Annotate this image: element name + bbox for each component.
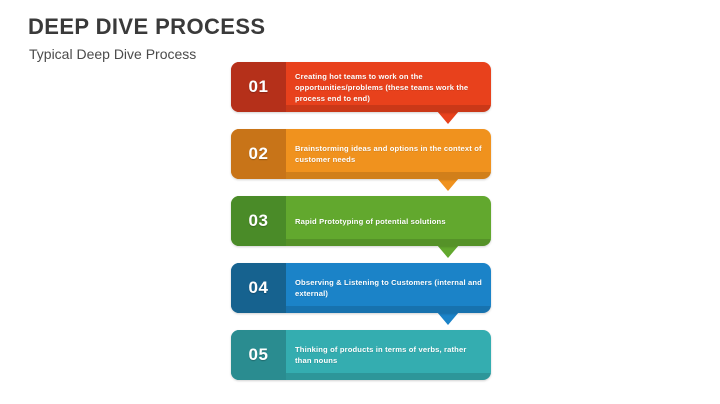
step-description: Rapid Prototyping of potential solutions bbox=[295, 196, 483, 246]
step-number-label: 04 bbox=[249, 278, 269, 298]
step-number-block: 02 bbox=[231, 129, 286, 179]
step-number-block: 01 bbox=[231, 62, 286, 112]
step-description: Observing & Listening to Customers (inte… bbox=[295, 263, 483, 313]
step-arrow-icon bbox=[437, 312, 459, 325]
step-number-label: 02 bbox=[249, 144, 269, 164]
process-step-list: 01 Creating hot teams to work on the opp… bbox=[231, 62, 493, 402]
step-arrow-icon bbox=[437, 245, 459, 258]
step-arrow-icon bbox=[437, 111, 459, 124]
step-description: Creating hot teams to work on the opport… bbox=[295, 62, 483, 112]
step-bar[interactable]: 04 Observing & Listening to Customers (i… bbox=[231, 263, 491, 313]
step-number-block: 05 bbox=[231, 330, 286, 380]
slide-canvas: DEEP DIVE PROCESS Typical Deep Dive Proc… bbox=[0, 0, 720, 404]
step-bar[interactable]: 05 Thinking of products in terms of verb… bbox=[231, 330, 491, 380]
step-bar[interactable]: 01 Creating hot teams to work on the opp… bbox=[231, 62, 491, 112]
step-bar[interactable]: 03 Rapid Prototyping of potential soluti… bbox=[231, 196, 491, 246]
step-number-block: 04 bbox=[231, 263, 286, 313]
step-number-label: 05 bbox=[249, 345, 269, 365]
step-number-block: 03 bbox=[231, 196, 286, 246]
step-description: Brainstorming ideas and options in the c… bbox=[295, 129, 483, 179]
step-number-label: 03 bbox=[249, 211, 269, 231]
step-number-label: 01 bbox=[249, 77, 269, 97]
step-arrow-icon bbox=[437, 178, 459, 191]
page-title: DEEP DIVE PROCESS bbox=[28, 14, 265, 40]
process-step[interactable]: 04 Observing & Listening to Customers (i… bbox=[231, 263, 491, 313]
step-bar[interactable]: 02 Brainstorming ideas and options in th… bbox=[231, 129, 491, 179]
process-step[interactable]: 02 Brainstorming ideas and options in th… bbox=[231, 129, 491, 179]
process-step[interactable]: 03 Rapid Prototyping of potential soluti… bbox=[231, 196, 491, 246]
process-step[interactable]: 05 Thinking of products in terms of verb… bbox=[231, 330, 491, 380]
process-step[interactable]: 01 Creating hot teams to work on the opp… bbox=[231, 62, 491, 112]
step-description: Thinking of products in terms of verbs, … bbox=[295, 330, 483, 380]
page-subtitle: Typical Deep Dive Process bbox=[29, 46, 196, 62]
